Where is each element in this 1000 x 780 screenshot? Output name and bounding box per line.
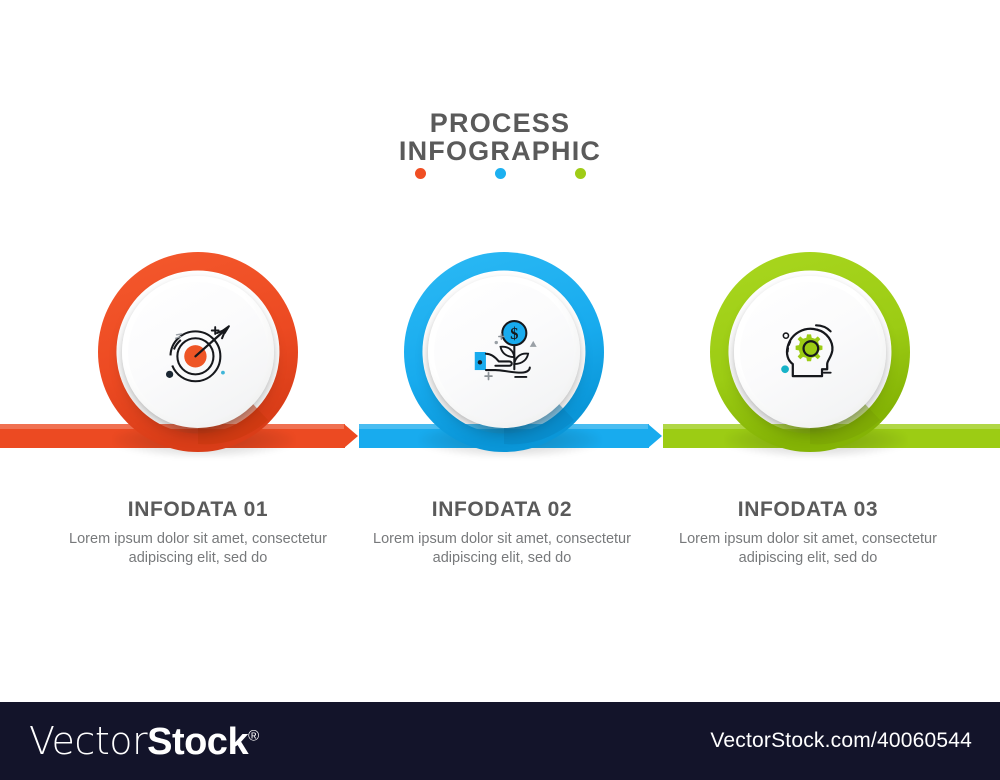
step-node-1[interactable] — [98, 252, 308, 462]
watermark-footer: VectorStock® VectorStock.com/40060544 — [0, 702, 1000, 780]
step-node-2[interactable]: $ — [404, 252, 614, 462]
head-gear-icon — [767, 309, 853, 395]
step-description-3: Lorem ipsum dolor sit amet, consectetur … — [678, 530, 938, 568]
step-icon-holder-2: $ — [428, 276, 580, 428]
dot-green-icon — [575, 168, 586, 179]
page-title-line-2: INFOGRAPHIC — [0, 138, 1000, 164]
svg-text:$: $ — [510, 324, 518, 343]
step-icon-holder-3 — [734, 276, 886, 428]
page-title-block: PROCESS INFOGRAPHIC — [0, 110, 1000, 164]
step-icon-holder-1 — [122, 276, 274, 428]
ribbon-arrow-tip-red — [344, 424, 358, 448]
hand-money-plant-icon: $ — [461, 309, 547, 395]
step-node-3[interactable] — [710, 252, 920, 462]
logo-text-bold: Stock — [147, 721, 248, 763]
step-title-2: INFODATA 02 — [372, 498, 632, 522]
vectorstock-logo: VectorStock® — [29, 719, 259, 764]
step-title-3: INFODATA 03 — [678, 498, 938, 522]
watermark-url: VectorStock.com/40060544 — [710, 729, 972, 753]
step-caption-2: INFODATA 02 Lorem ipsum dolor sit amet, … — [372, 498, 632, 568]
step-description-1: Lorem ipsum dolor sit amet, consectetur … — [68, 530, 328, 568]
step-title-1: INFODATA 01 — [68, 498, 328, 522]
title-dot-row — [0, 168, 1000, 179]
step-ring-wrap-3 — [710, 252, 910, 452]
step-ring-wrap-1 — [98, 252, 298, 452]
logo-text-light: Vector — [29, 719, 147, 763]
step-description-2: Lorem ipsum dolor sit amet, consectetur … — [372, 530, 632, 568]
step-caption-3: INFODATA 03 Lorem ipsum dolor sit amet, … — [678, 498, 938, 568]
infographic-canvas: PROCESS INFOGRAPHIC — [0, 0, 1000, 780]
ribbon-arrow-tip-blue — [648, 424, 662, 448]
dot-red-icon — [415, 168, 426, 179]
step-ring-wrap-2: $ — [404, 252, 604, 452]
step-caption-1: INFODATA 01 Lorem ipsum dolor sit amet, … — [68, 498, 328, 568]
page-title-line-1: PROCESS — [0, 110, 1000, 136]
dot-blue-icon — [495, 168, 506, 179]
registered-mark-icon: ® — [248, 727, 259, 744]
target-arrow-icon — [155, 309, 241, 395]
